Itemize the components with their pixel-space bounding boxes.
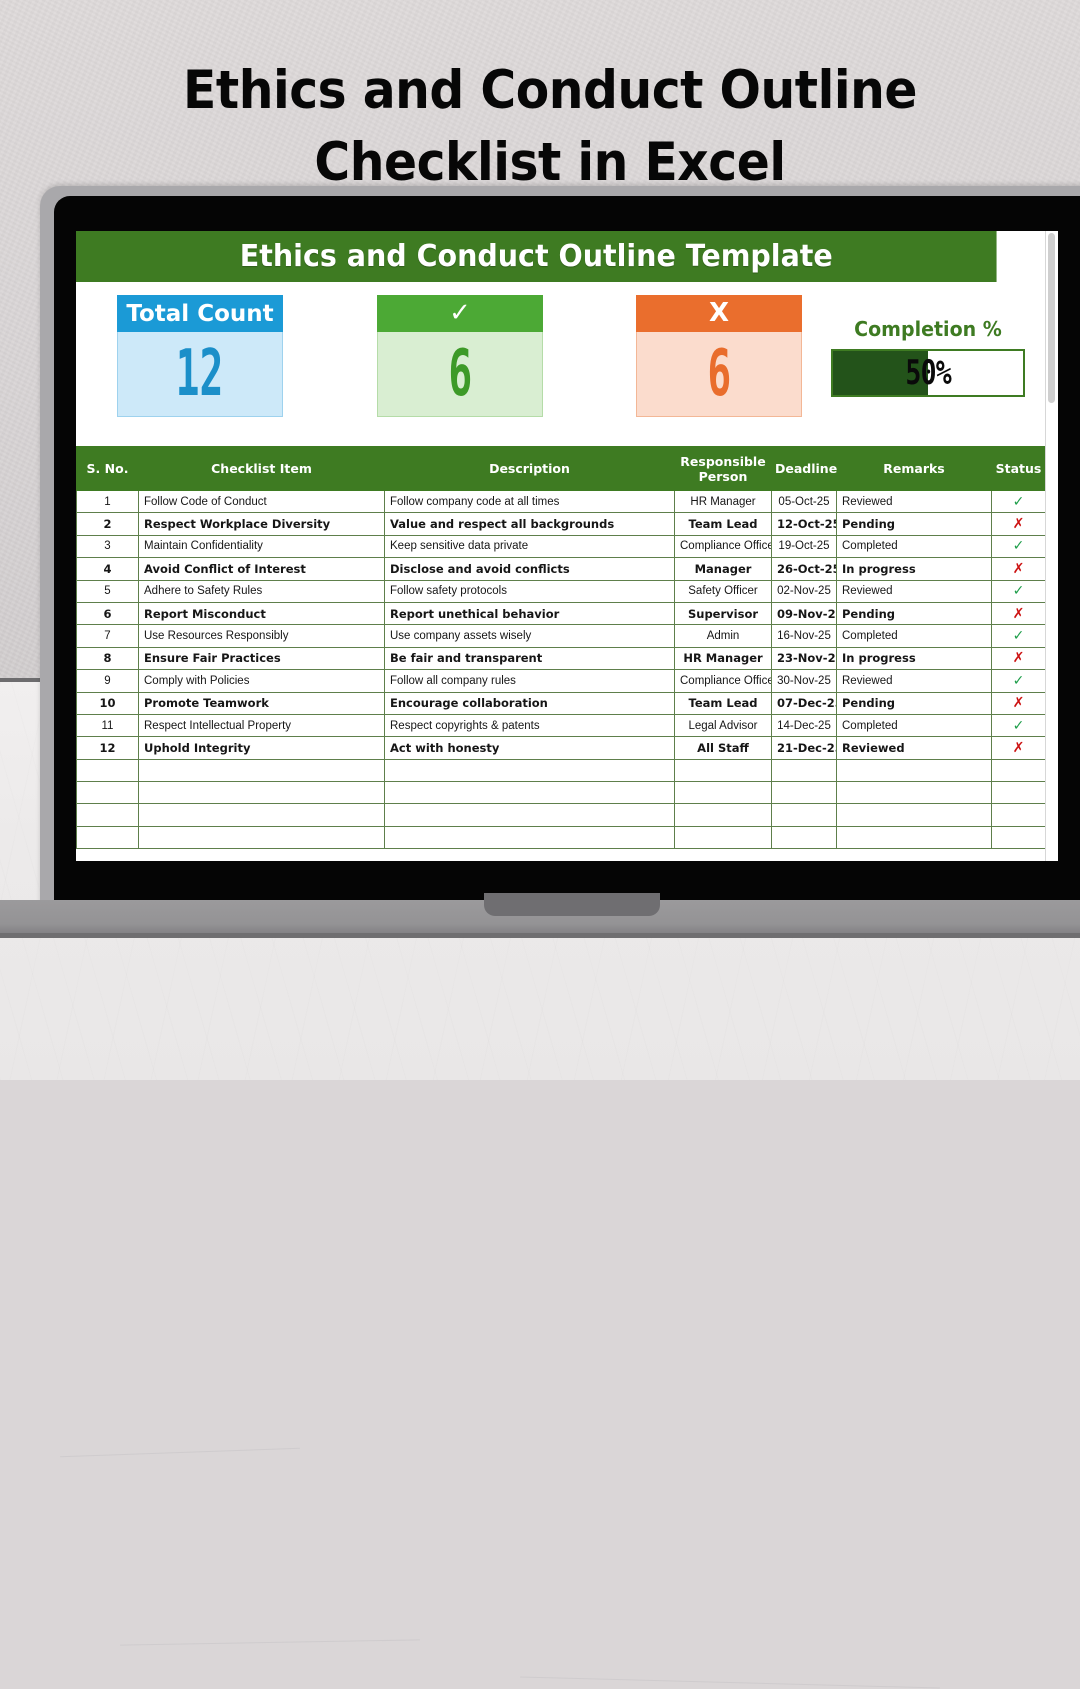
cell-sno[interactable]: 3	[77, 535, 139, 557]
kpi-completed-value-cell: 6	[377, 332, 543, 417]
cell-sno[interactable]: 7	[77, 625, 139, 647]
table-row[interactable]: 11Respect Intellectual PropertyRespect c…	[77, 714, 1046, 736]
cell-responsible-person[interactable]: Admin	[675, 625, 772, 647]
cell-remarks[interactable]: In progress	[837, 647, 992, 669]
cell-remarks[interactable]: Reviewed	[837, 737, 992, 759]
table-row[interactable]: 2Respect Workplace DiversityValue and re…	[77, 513, 1046, 535]
cell-deadline[interactable]: 19-Oct-25	[772, 535, 837, 557]
completion-widget: Completion % 50%	[831, 317, 1025, 397]
kpi-completed-value: 6	[448, 337, 472, 411]
completion-label: Completion %	[836, 317, 1020, 341]
cross-icon: ✗	[1013, 561, 1025, 577]
cell-responsible-person[interactable]	[675, 782, 772, 804]
cell-remarks[interactable]: Completed	[837, 625, 992, 647]
cell-description[interactable]: Report unethical behavior	[385, 602, 675, 624]
cross-icon: ✗	[1013, 606, 1025, 622]
cell-sno[interactable]: 1	[77, 491, 139, 513]
checklist-table: S. No. Checklist Item Description Respon…	[76, 446, 1046, 849]
checklist-table-head: S. No. Checklist Item Description Respon…	[77, 447, 1046, 491]
check-icon: ✓	[1013, 718, 1025, 734]
column-header-remarks[interactable]: Remarks	[837, 447, 992, 491]
table-header-row: S. No. Checklist Item Description Respon…	[77, 447, 1046, 491]
cell-status[interactable]: ✗	[992, 513, 1046, 535]
cell-deadline[interactable]: 21-Dec-25	[772, 737, 837, 759]
cell-responsible-person[interactable]: Supervisor	[675, 602, 772, 624]
cell-status[interactable]: ✓	[992, 714, 1046, 736]
cell-description[interactable]: Use company assets wisely	[385, 625, 675, 647]
cell-item[interactable]	[139, 782, 385, 804]
cell-status[interactable]: ✓	[992, 535, 1046, 557]
check-icon: ✓	[1013, 673, 1025, 689]
desk-vein	[520, 1677, 940, 1689]
cell-remarks[interactable]: Reviewed	[837, 580, 992, 602]
cell-description[interactable]: Encourage collaboration	[385, 692, 675, 714]
cell-responsible-person[interactable]: Compliance Officer	[675, 670, 772, 692]
kpi-pending-value-cell: 6	[636, 332, 802, 417]
column-header-item[interactable]: Checklist Item	[139, 447, 385, 491]
desk-vein	[120, 1639, 420, 1645]
kpi-card-completed: ✓ 6	[377, 295, 543, 417]
cell-sno[interactable]: 9	[77, 670, 139, 692]
kpi-total-count-value-cell: 12	[117, 332, 283, 417]
cell-description[interactable]: Value and respect all backgrounds	[385, 513, 675, 535]
cell-description[interactable]: Disclose and avoid conflicts	[385, 558, 675, 580]
cell-remarks[interactable]: Pending	[837, 692, 992, 714]
spreadsheet-screen: Ethics and Conduct Outline Template Tota…	[76, 231, 1058, 861]
cell-item[interactable]: Ensure Fair Practices	[139, 647, 385, 669]
cell-item[interactable]: Report Misconduct	[139, 602, 385, 624]
cell-sno[interactable]: 4	[77, 558, 139, 580]
cell-sno[interactable]: 8	[77, 647, 139, 669]
cell-item[interactable]	[139, 826, 385, 848]
cell-remarks[interactable]: Completed	[837, 714, 992, 736]
cell-item[interactable]: Adhere to Safety Rules	[139, 580, 385, 602]
kpi-card-pending: X 6	[636, 295, 802, 417]
cell-remarks[interactable]: Pending	[837, 513, 992, 535]
table-row[interactable]	[77, 826, 1046, 848]
completion-percent-text: 50%	[833, 351, 1023, 395]
completion-percent-value: 50%	[905, 353, 951, 393]
cell-status[interactable]: ✓	[992, 625, 1046, 647]
cell-deadline[interactable]: 30-Nov-25	[772, 670, 837, 692]
cell-description[interactable]: Follow safety protocols	[385, 580, 675, 602]
cell-description[interactable]: Follow all company rules	[385, 670, 675, 692]
cell-responsible-person[interactable]: Manager	[675, 558, 772, 580]
check-icon: ✓	[377, 295, 543, 332]
cell-status[interactable]	[992, 826, 1046, 848]
cell-sno[interactable]	[77, 804, 139, 826]
laptop-base-notch	[484, 893, 660, 916]
cell-sno[interactable]: 5	[77, 580, 139, 602]
column-header-description[interactable]: Description	[385, 447, 675, 491]
cell-sno[interactable]	[77, 759, 139, 781]
cell-description[interactable]	[385, 759, 675, 781]
cell-responsible-person[interactable]: Team Lead	[675, 692, 772, 714]
cell-status[interactable]: ✓	[992, 580, 1046, 602]
cell-responsible-person[interactable]: Team Lead	[675, 513, 772, 535]
check-icon: ✓	[1013, 583, 1025, 599]
cell-description[interactable]: Be fair and transparent	[385, 647, 675, 669]
cell-responsible-person[interactable]: HR Manager	[675, 491, 772, 513]
cell-responsible-person[interactable]: Compliance Officer	[675, 535, 772, 557]
cell-status[interactable]: ✓	[992, 670, 1046, 692]
page-title: Ethics and Conduct Outline Checklist in …	[90, 55, 1010, 199]
cell-item[interactable]: Maintain Confidentiality	[139, 535, 385, 557]
cell-responsible-person[interactable]	[675, 804, 772, 826]
cell-sno[interactable]: 6	[77, 602, 139, 624]
cell-remarks[interactable]: In progress	[837, 558, 992, 580]
table-row[interactable]: 10Promote TeamworkEncourage collaboratio…	[77, 692, 1046, 714]
cell-item[interactable]: Promote Teamwork	[139, 692, 385, 714]
cell-responsible-person[interactable]: Safety Officer	[675, 580, 772, 602]
cell-responsible-person[interactable]	[675, 826, 772, 848]
cell-responsible-person[interactable]	[675, 759, 772, 781]
cross-icon: X	[636, 295, 802, 332]
check-icon: ✓	[1013, 628, 1025, 644]
cell-responsible-person[interactable]: All Staff	[675, 737, 772, 759]
cell-remarks[interactable]	[837, 782, 992, 804]
cell-remarks[interactable]	[837, 826, 992, 848]
sheet-title-banner: Ethics and Conduct Outline Template	[76, 231, 997, 282]
cell-remarks[interactable]: Completed	[837, 535, 992, 557]
cross-icon: ✗	[1013, 516, 1025, 532]
cell-deadline[interactable]: 05-Oct-25	[772, 491, 837, 513]
cell-deadline[interactable]	[772, 759, 837, 781]
cell-item[interactable]: Uphold Integrity	[139, 737, 385, 759]
kpi-card-total-count: Total Count 12	[117, 295, 283, 417]
cell-deadline[interactable]: 12-Oct-25	[772, 513, 837, 535]
cell-deadline[interactable]	[772, 782, 837, 804]
table-row[interactable]: 3Maintain ConfidentialityKeep sensitive …	[77, 535, 1046, 557]
cell-item[interactable]: Respect Workplace Diversity	[139, 513, 385, 535]
cell-deadline[interactable]: 09-Nov-25	[772, 602, 837, 624]
cell-deadline[interactable]: 16-Nov-25	[772, 625, 837, 647]
table-row[interactable]: 7Use Resources ResponsiblyUse company as…	[77, 625, 1046, 647]
table-row[interactable]: 6Report MisconductReport unethical behav…	[77, 602, 1046, 624]
cell-sno[interactable]: 10	[77, 692, 139, 714]
table-row[interactable]	[77, 782, 1046, 804]
cell-status[interactable]: ✗	[992, 692, 1046, 714]
cell-responsible-person[interactable]: Legal Advisor	[675, 714, 772, 736]
cell-status[interactable]	[992, 782, 1046, 804]
completion-progress-bar: 50%	[831, 349, 1025, 397]
cell-item[interactable]: Respect Intellectual Property	[139, 714, 385, 736]
kpi-pending-value: 6	[707, 337, 731, 411]
cell-deadline[interactable]: 02-Nov-25	[772, 580, 837, 602]
table-row[interactable]: 12Uphold IntegrityAct with honestyAll St…	[77, 737, 1046, 759]
cell-remarks[interactable]	[837, 759, 992, 781]
cell-deadline[interactable]	[772, 804, 837, 826]
column-header-deadline[interactable]: Deadline	[772, 447, 837, 491]
table-row[interactable]: 5Adhere to Safety RulesFollow safety pro…	[77, 580, 1046, 602]
cell-status[interactable]: ✗	[992, 647, 1046, 669]
cell-deadline[interactable]: 23-Nov-25	[772, 647, 837, 669]
table-row[interactable]: 4Avoid Conflict of InterestDisclose and …	[77, 558, 1046, 580]
table-row[interactable]: 8Ensure Fair PracticesBe fair and transp…	[77, 647, 1046, 669]
cell-description[interactable]: Follow company code at all times	[385, 491, 675, 513]
cell-deadline[interactable]: 14-Dec-25	[772, 714, 837, 736]
cell-remarks[interactable]: Reviewed	[837, 670, 992, 692]
desk-vein	[60, 1448, 300, 1457]
cell-sno[interactable]: 12	[77, 737, 139, 759]
cell-description[interactable]	[385, 826, 675, 848]
kpi-total-count-label: Total Count	[117, 295, 283, 332]
cell-deadline[interactable]: 26-Oct-25	[772, 558, 837, 580]
column-header-responsible-person[interactable]: Responsible Person	[675, 447, 772, 491]
cell-sno[interactable]	[77, 826, 139, 848]
cell-status[interactable]	[992, 759, 1046, 781]
cross-icon: ✗	[1013, 695, 1025, 711]
cell-deadline[interactable]: 07-Dec-25	[772, 692, 837, 714]
cell-status[interactable]: ✓	[992, 491, 1046, 513]
cell-item[interactable]: Follow Code of Conduct	[139, 491, 385, 513]
cross-icon: ✗	[1013, 740, 1025, 756]
cross-icon: ✗	[1013, 650, 1025, 666]
cell-status[interactable]: ✗	[992, 737, 1046, 759]
cell-description[interactable]: Respect copyrights & patents	[385, 714, 675, 736]
cell-responsible-person[interactable]: HR Manager	[675, 647, 772, 669]
cell-description[interactable]	[385, 804, 675, 826]
cell-description[interactable]	[385, 782, 675, 804]
cell-deadline[interactable]	[772, 826, 837, 848]
cell-description[interactable]: Keep sensitive data private	[385, 535, 675, 557]
cell-remarks[interactable]: Pending	[837, 602, 992, 624]
cell-sno[interactable]	[77, 782, 139, 804]
table-row[interactable]: 9Comply with PoliciesFollow all company …	[77, 670, 1046, 692]
checklist-table-body: 1Follow Code of ConductFollow company co…	[77, 491, 1046, 849]
cell-remarks[interactable]: Reviewed	[837, 491, 992, 513]
table-row[interactable]	[77, 759, 1046, 781]
cell-remarks[interactable]	[837, 804, 992, 826]
cell-item[interactable]: Avoid Conflict of Interest	[139, 558, 385, 580]
cell-item[interactable]: Use Resources Responsibly	[139, 625, 385, 647]
cell-description[interactable]: Act with honesty	[385, 737, 675, 759]
table-row[interactable]	[77, 804, 1046, 826]
check-icon: ✓	[1013, 494, 1025, 510]
column-header-sno[interactable]: S. No.	[77, 447, 139, 491]
table-row[interactable]: 1Follow Code of ConductFollow company co…	[77, 491, 1046, 513]
kpi-total-count-value: 12	[176, 337, 224, 411]
vertical-scrollbar[interactable]	[1045, 231, 1058, 861]
cell-item[interactable]: Comply with Policies	[139, 670, 385, 692]
scrollbar-thumb[interactable]	[1048, 233, 1055, 403]
check-icon: ✓	[1013, 538, 1025, 554]
column-header-status[interactable]: Status	[992, 447, 1046, 491]
cell-sno[interactable]: 2	[77, 513, 139, 535]
cell-item[interactable]	[139, 759, 385, 781]
cell-status[interactable]	[992, 804, 1046, 826]
cell-status[interactable]: ✗	[992, 602, 1046, 624]
cell-sno[interactable]: 11	[77, 714, 139, 736]
cell-status[interactable]: ✗	[992, 558, 1046, 580]
cell-item[interactable]	[139, 804, 385, 826]
